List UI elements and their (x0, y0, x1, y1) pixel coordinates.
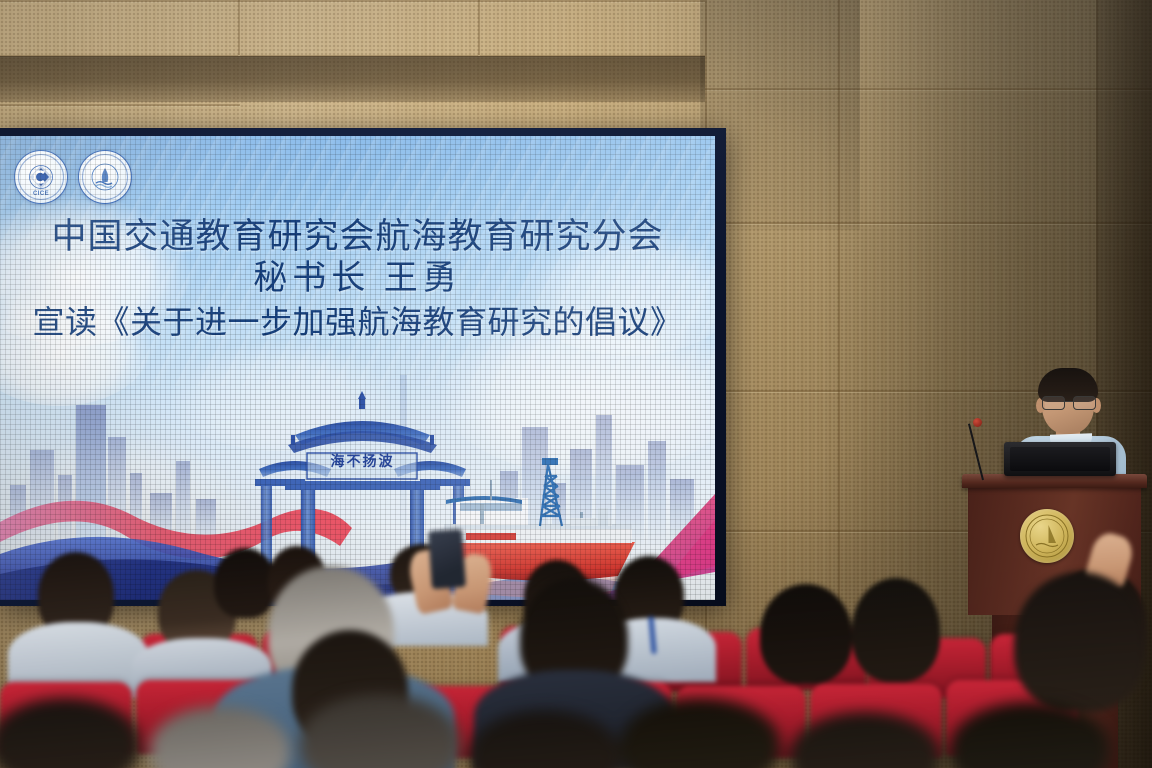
attendee-head-foreground (300, 694, 460, 768)
glasses-lens (1042, 396, 1065, 410)
panel-seam (0, 0, 705, 2)
slide-emblems: CICE (14, 150, 132, 204)
cice-emblem-label: CICE (15, 191, 67, 197)
attendee-head (214, 548, 276, 618)
panel-seam (238, 0, 240, 55)
glasses-bridge (1063, 401, 1073, 402)
attendee-head-foreground (620, 698, 780, 768)
wall-shadow-band (0, 56, 705, 102)
attendee-head-foreground (790, 712, 940, 768)
maritime-emblem-mark (79, 151, 131, 203)
panel-seam (0, 104, 240, 106)
led-presentation-screen: CICE 中国交通教育研究会航海教育研究分会 秘书长 王勇 宣读《关于进一步加强… (0, 136, 715, 600)
microphone-head (973, 418, 982, 427)
laptop-screen (1010, 447, 1110, 471)
presenter-laptop (1004, 442, 1116, 476)
presenter-glasses (1042, 396, 1094, 409)
podium-top-surface (962, 474, 1147, 488)
sailboat-gold-seal (1020, 509, 1074, 563)
maritime-emblem (78, 150, 132, 204)
glasses-lens (1073, 396, 1096, 410)
attendee-head-foreground (470, 710, 620, 768)
foreground-audience (0, 692, 1152, 768)
slide-line-topic: 宣读《关于进一步加强航海教育研究的倡议》 (0, 302, 715, 344)
slide-text-block: 中国交通教育研究会航海教育研究分会 秘书长 王勇 宣读《关于进一步加强航海教育研… (0, 216, 715, 344)
slide-line-organization: 中国交通教育研究会航海教育研究分会 (0, 216, 715, 257)
attendee-head-foreground (950, 702, 1110, 768)
panel-seam (478, 0, 480, 55)
attendee-head (1014, 572, 1146, 712)
slide-line-speaker: 秘书长 王勇 (0, 257, 715, 302)
conference-hall-photo: CICE 中国交通教育研究会航海教育研究分会 秘书长 王勇 宣读《关于进一步加强… (0, 0, 1152, 768)
attendee-head-foreground-gray (150, 706, 290, 768)
cice-emblem: CICE (14, 150, 68, 204)
smartphone (428, 529, 466, 589)
attendee-head-foreground (0, 698, 140, 768)
